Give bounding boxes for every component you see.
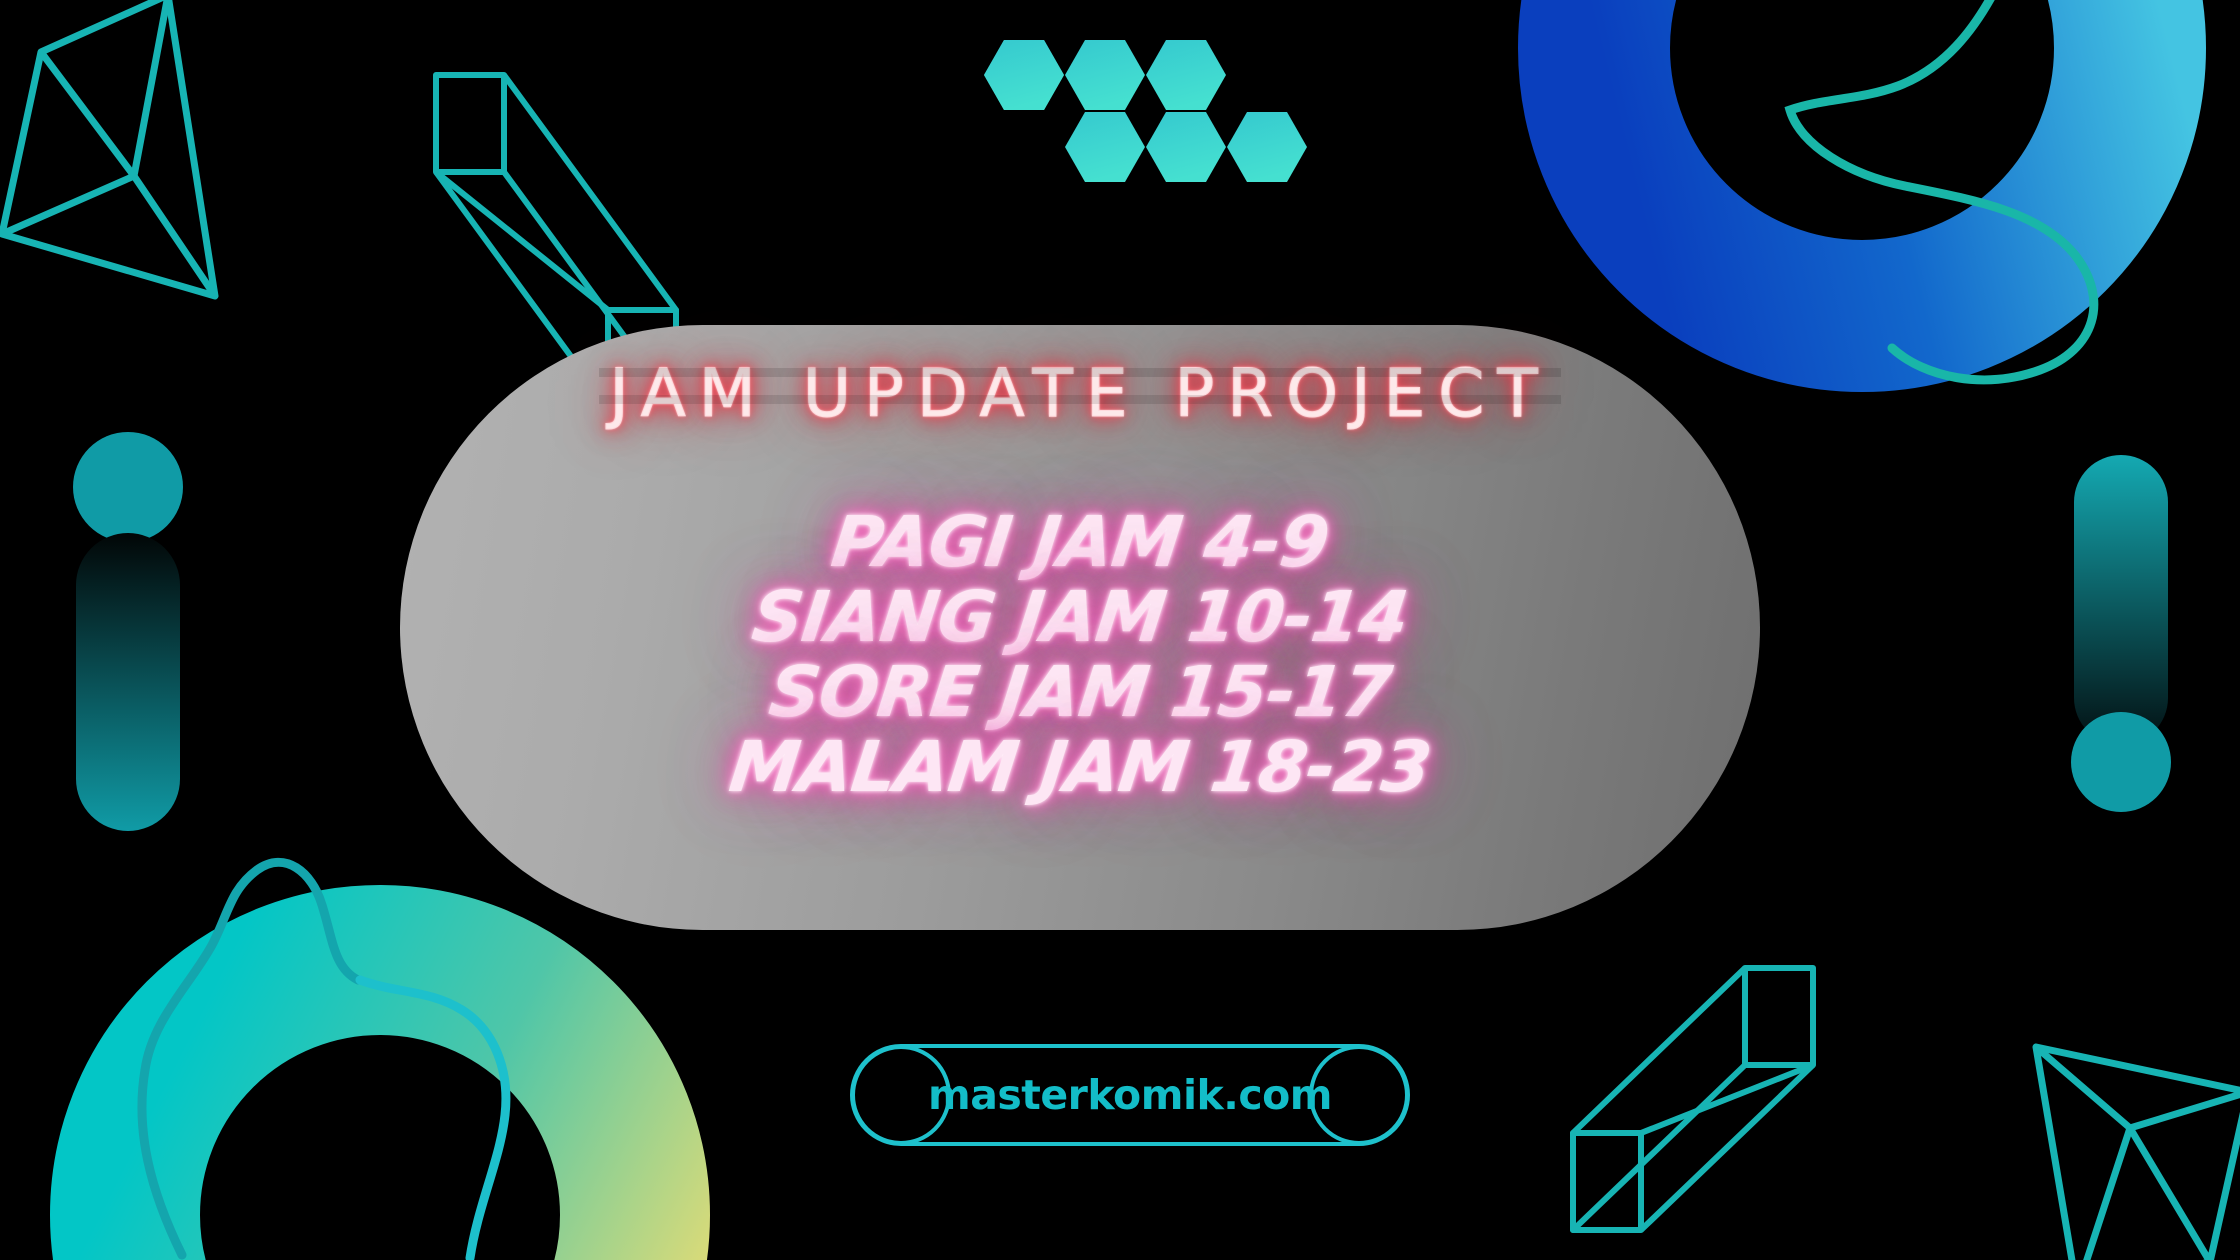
- letter-i-mark-left: [73, 432, 183, 831]
- schedule-line-sore: SORE JAM 15-17: [395, 655, 1764, 730]
- poster-canvas: JAM UPDATE PROJECT PAGI JAM 4-9 SIANG JA…: [0, 0, 2240, 1260]
- schedule-line-pagi: PAGI JAM 4-9: [395, 505, 1764, 580]
- schedule-line-siang: SIANG JAM 10-14: [395, 580, 1764, 655]
- wireframe-pyramid-bottom-right: [2036, 1047, 2240, 1260]
- schedule-list: PAGI JAM 4-9 SIANG JAM 10-14 SORE JAM 15…: [400, 505, 1760, 805]
- hexagon-cluster: [984, 40, 1307, 182]
- exclamation-mark-right: [2071, 455, 2171, 812]
- website-badge[interactable]: masterkomik.com: [850, 1044, 1410, 1146]
- wireframe-pyramid-top-left: [2, 0, 215, 296]
- schedule-line-malam: MALAM JAM 18-23: [395, 730, 1764, 805]
- wireframe-box-bottom-right: [1573, 968, 1813, 1230]
- title-container: JAM UPDATE PROJECT: [400, 355, 1760, 432]
- website-url[interactable]: masterkomik.com: [850, 1044, 1410, 1146]
- page-title: JAM UPDATE PROJECT: [609, 355, 1550, 432]
- gradient-ring-bottom-left: [125, 960, 635, 1260]
- gradient-ring-top-right: [1475, 0, 2135, 325]
